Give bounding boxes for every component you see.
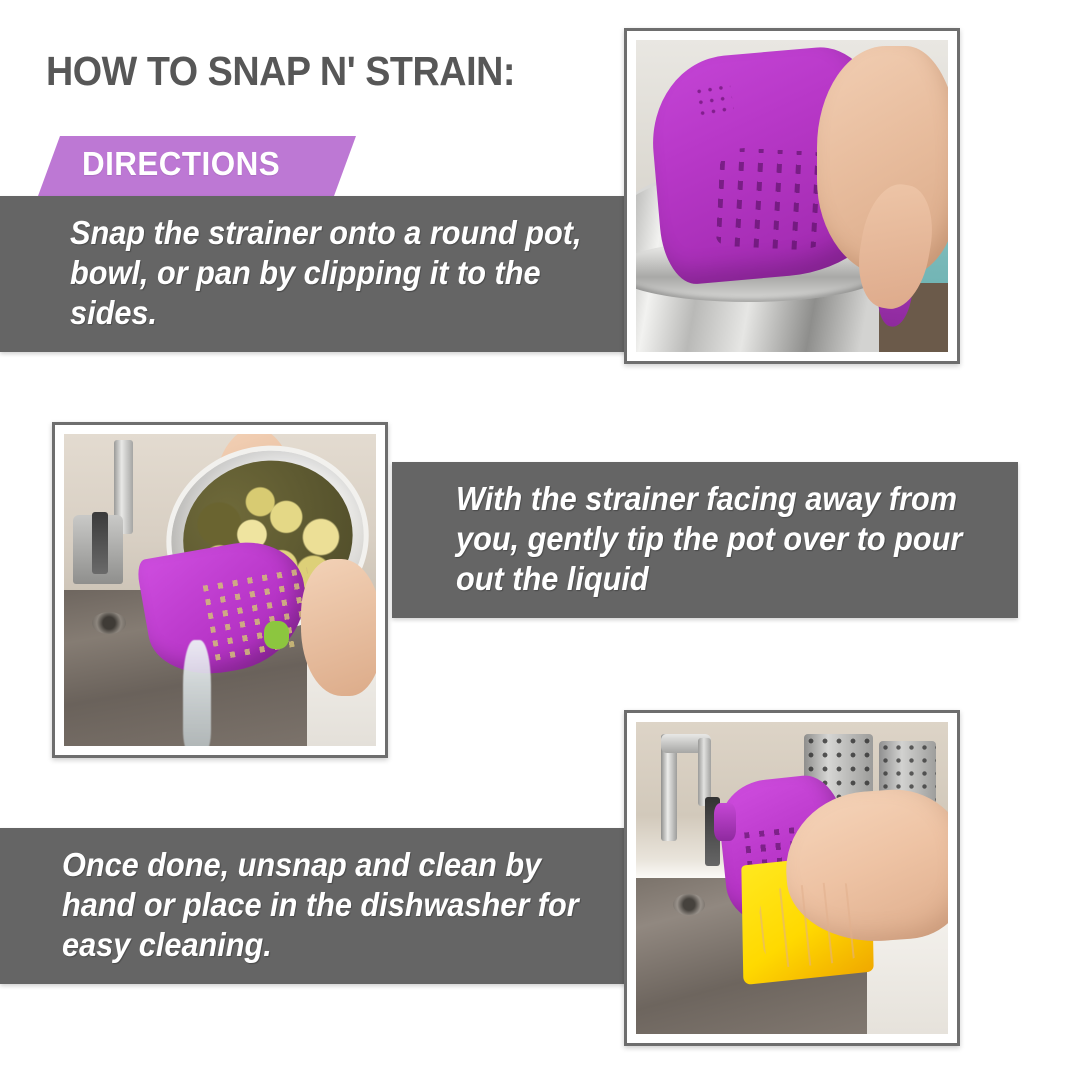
step-1-text-bar: Snap the strainer onto a round pot, bowl… [0, 196, 634, 352]
sink-drain [673, 894, 704, 916]
photo-cleaning-strainer [636, 722, 948, 1034]
step-1-text: Snap the strainer onto a round pot, bowl… [70, 213, 595, 333]
step-2-text: With the strainer facing away from you, … [456, 479, 979, 599]
directions-banner-label: DIRECTIONS [82, 145, 280, 183]
green-clip [264, 621, 289, 649]
step-1-photo-frame [624, 28, 960, 364]
faucet-secondary [698, 738, 710, 807]
scene-cleaning-strainer [636, 722, 948, 1034]
hand-lower [301, 559, 376, 696]
step-3-text-bar: Once done, unsnap and clean by hand or p… [0, 828, 628, 984]
photo-straining-potatoes [64, 434, 376, 746]
directions-banner: DIRECTIONS [38, 136, 356, 196]
step-3-text: Once done, unsnap and clean by hand or p… [62, 845, 588, 965]
page-title: HOW TO SNAP N' STRAIN: [46, 48, 515, 95]
step-3-photo-frame [624, 710, 960, 1046]
pouring-water [183, 640, 211, 746]
photo-snap-strainer-on-pot [636, 40, 948, 352]
strainer-grip-dots [693, 81, 734, 118]
scene-straining-potatoes [64, 434, 376, 746]
step-2-photo-frame [52, 422, 388, 758]
infographic-root: HOW TO SNAP N' STRAIN: DIRECTIONS Snap t… [0, 0, 1080, 1080]
strainer-clip-left [714, 803, 736, 840]
fingers [757, 879, 871, 971]
step-2-text-bar: With the strainer facing away from you, … [392, 462, 1018, 618]
scene-snap-on-pot [636, 40, 948, 352]
faucet-lever [92, 512, 108, 574]
sink-drain [92, 612, 126, 634]
